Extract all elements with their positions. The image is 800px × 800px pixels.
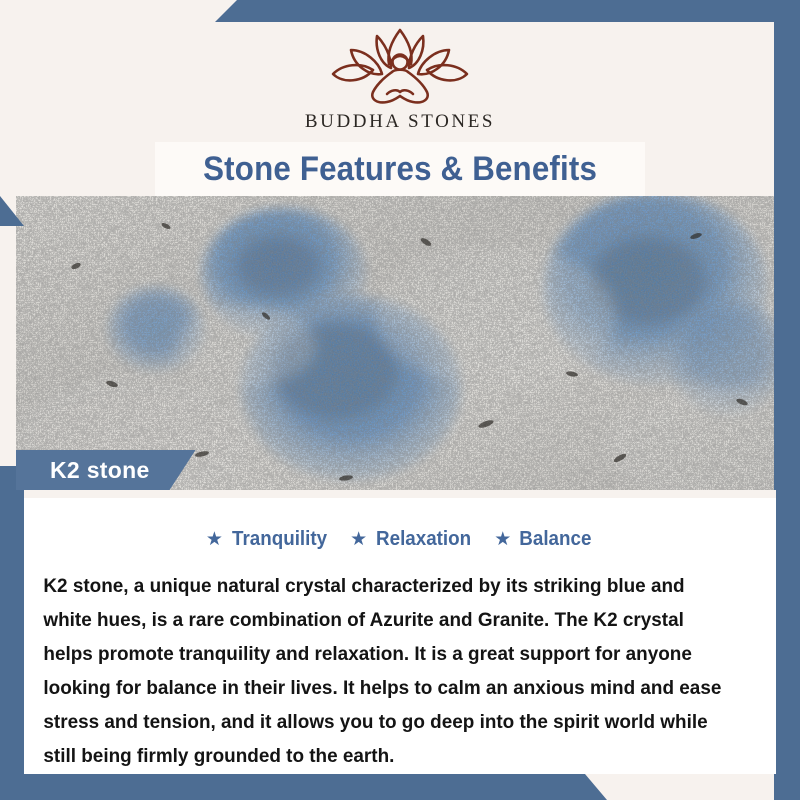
stone-caption-badge: K2 stone (16, 450, 196, 490)
benefit-item-balance: ★ Balance (494, 528, 594, 551)
benefit-label: Balance (520, 528, 592, 551)
page-title: Stone Features & Benefits (203, 150, 597, 189)
star-icon: ★ (206, 530, 223, 549)
benefit-label: Tranquility (232, 528, 327, 551)
frame-top-blue-band (0, 0, 800, 22)
star-icon: ★ (494, 530, 511, 549)
star-icon: ★ (350, 530, 367, 549)
brand-wordmark: BUDDHA STONES (305, 111, 495, 133)
infographic-root: BUDDHA STONES Stone Features & Benefits (0, 0, 800, 800)
lotus-meditation-figure-icon (325, 24, 475, 110)
card-top-divider (24, 490, 776, 498)
description-paragraph: K2 stone, a unique natural crystal chara… (24, 569, 753, 773)
benefit-label: Relaxation (376, 528, 471, 551)
benefit-item-tranquility: ★ Tranquility (206, 528, 330, 551)
frame-bottom-blue-band (0, 774, 800, 800)
stone-caption-label: K2 stone (50, 457, 150, 484)
benefits-row: ★ Tranquility ★ Relaxation ★ Balance (24, 528, 776, 551)
content-card: ★ Tranquility ★ Relaxation ★ Balance K2 … (24, 490, 776, 774)
benefit-item-relaxation: ★ Relaxation (350, 528, 474, 551)
brand-header: BUDDHA STONES (0, 22, 800, 142)
title-banner: Stone Features & Benefits (155, 142, 645, 196)
frame-left-blue-strip (0, 466, 24, 800)
